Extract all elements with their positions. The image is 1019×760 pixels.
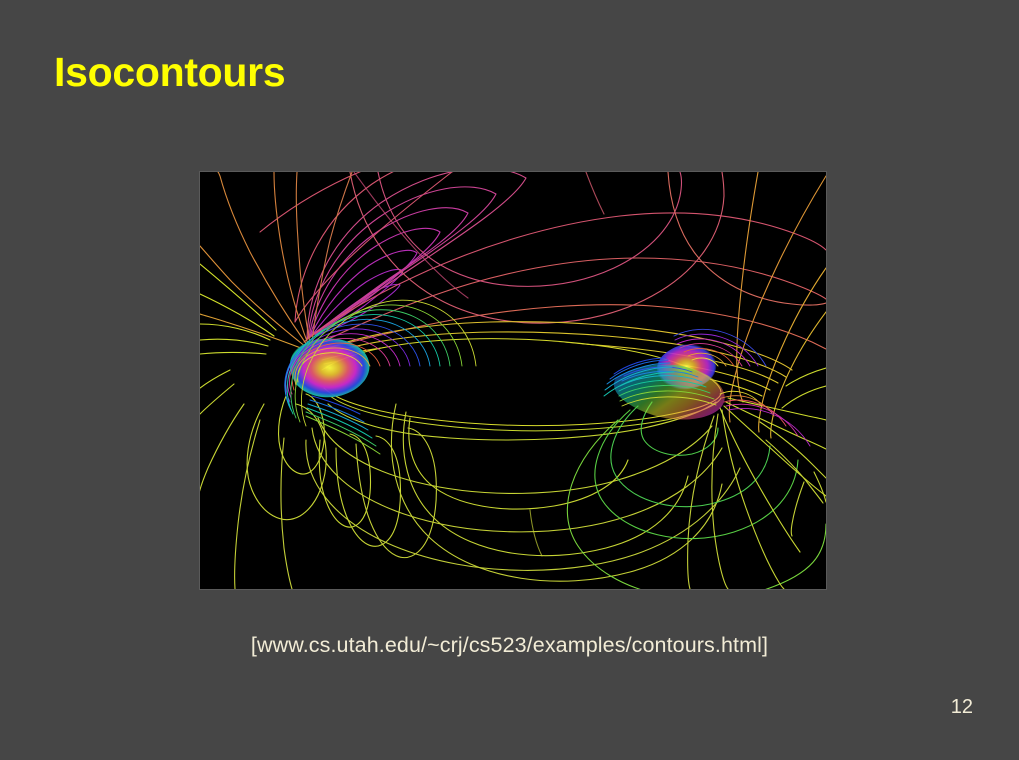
page-title: Isocontours	[54, 50, 285, 95]
contour-canvas	[200, 172, 826, 589]
airfoil-isocontour-plot	[200, 172, 826, 589]
figure-caption: [www.cs.utah.edu/~crj/cs523/examples/con…	[0, 633, 1019, 658]
slide: Isocontours	[0, 0, 1019, 760]
page-number: 12	[951, 696, 973, 719]
